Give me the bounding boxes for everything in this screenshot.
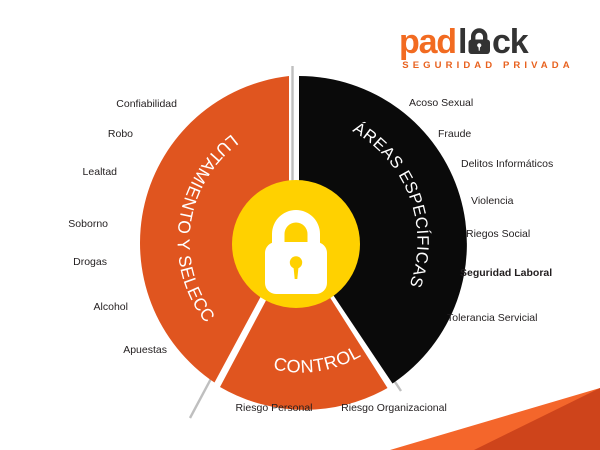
list-item: Violencia <box>471 196 513 207</box>
center-hub <box>232 180 360 308</box>
list-item: Robo <box>108 129 133 140</box>
list-item: Tolerancia Servicial <box>447 313 537 324</box>
list-item: Riesgo Personal <box>235 403 312 414</box>
list-item: Riegos Social <box>466 229 530 240</box>
corner-decoration <box>390 388 600 450</box>
logo-text-pad: pad <box>399 24 456 60</box>
list-item: Apuestas <box>123 345 167 356</box>
logo-text-l: l <box>458 24 467 60</box>
slide-canvas: pad l ck SEGURIDAD PRIVADA <box>0 0 600 450</box>
list-item: Fraude <box>438 129 471 140</box>
logo-wordmark: pad l ck <box>399 24 575 60</box>
segmented-donut-chart: RECLUTAMIENTO Y SELECCIÓN ÁREAS ESPECÍFI… <box>118 66 474 422</box>
list-item: Alcohol <box>94 302 128 313</box>
list-item: Seguridad Laboral <box>460 268 552 279</box>
padlock-icon <box>469 28 491 54</box>
list-item: Confiabilidad <box>116 99 177 110</box>
list-item: Acoso Sexual <box>409 98 473 109</box>
list-item: Soborno <box>68 219 108 230</box>
logo-text-ck: ck <box>492 24 529 60</box>
list-item: Delitos Informáticos <box>461 159 553 170</box>
list-item: Lealtad <box>83 167 117 178</box>
list-item: Drogas <box>73 257 107 268</box>
